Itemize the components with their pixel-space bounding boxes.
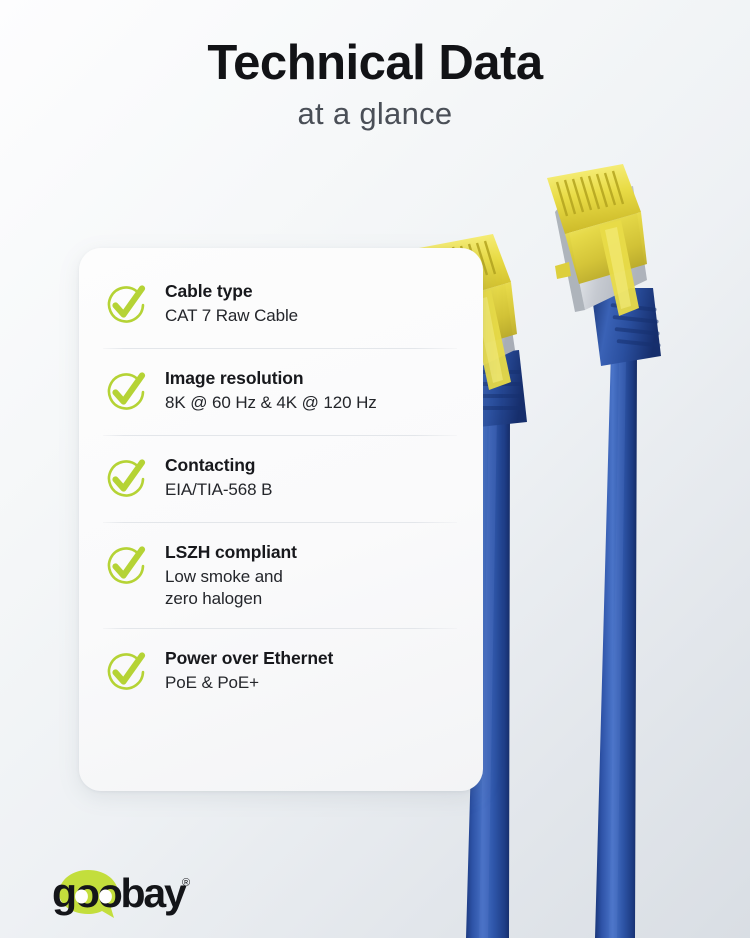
list-item: Contacting EIA/TIA-568 B <box>79 436 483 522</box>
list-item: Power over Ethernet PoE & PoE+ <box>79 629 483 715</box>
logo-o-counter-1 <box>75 890 88 904</box>
feature-heading: Power over Ethernet <box>165 648 333 670</box>
feature-description: CAT 7 Raw Cable <box>165 305 298 328</box>
check-circle-icon <box>103 282 149 328</box>
technical-data-card: Cable type CAT 7 Raw Cable Image resolut… <box>79 248 483 791</box>
check-circle-icon <box>103 456 149 502</box>
feature-heading: Cable type <box>165 281 298 303</box>
logo-o-counter-2 <box>99 890 112 904</box>
feature-heading: Contacting <box>165 455 272 477</box>
feature-heading: LSZH compliant <box>165 542 297 564</box>
infographic-canvas: Technical Data at a glance <box>0 0 750 938</box>
list-item: Image resolution 8K @ 60 Hz & 4K @ 120 H… <box>79 349 483 435</box>
logo-trademark: ® <box>182 877 190 889</box>
feature-list: Cable type CAT 7 Raw Cable Image resolut… <box>79 248 483 715</box>
list-item-text: LSZH compliant Low smoke and zero haloge… <box>165 540 297 611</box>
check-circle-icon <box>103 369 149 415</box>
check-circle-icon <box>103 543 149 589</box>
feature-description: Low smoke and zero halogen <box>165 566 297 611</box>
feature-description: EIA/TIA-568 B <box>165 479 272 502</box>
goobay-logo: goobay ® <box>52 866 242 920</box>
list-item: LSZH compliant Low smoke and zero haloge… <box>79 523 483 628</box>
page-subtitle: at a glance <box>0 96 750 132</box>
rj45-connector-upper <box>547 164 661 366</box>
feature-description: PoE & PoE+ <box>165 672 333 695</box>
check-circle-icon <box>103 649 149 695</box>
feature-description: 8K @ 60 Hz & 4K @ 120 Hz <box>165 392 377 415</box>
list-item-text: Power over Ethernet PoE & PoE+ <box>165 646 333 694</box>
list-item-text: Cable type CAT 7 Raw Cable <box>165 279 298 327</box>
cable-strand-2 <box>595 340 637 938</box>
list-item-text: Image resolution 8K @ 60 Hz & 4K @ 120 H… <box>165 366 377 414</box>
logo-wordmark: goobay <box>52 870 187 916</box>
feature-heading: Image resolution <box>165 368 377 390</box>
list-item-text: Contacting EIA/TIA-568 B <box>165 453 272 501</box>
page-title: Technical Data <box>0 38 750 89</box>
list-item: Cable type CAT 7 Raw Cable <box>79 262 483 348</box>
header: Technical Data at a glance <box>0 0 750 132</box>
